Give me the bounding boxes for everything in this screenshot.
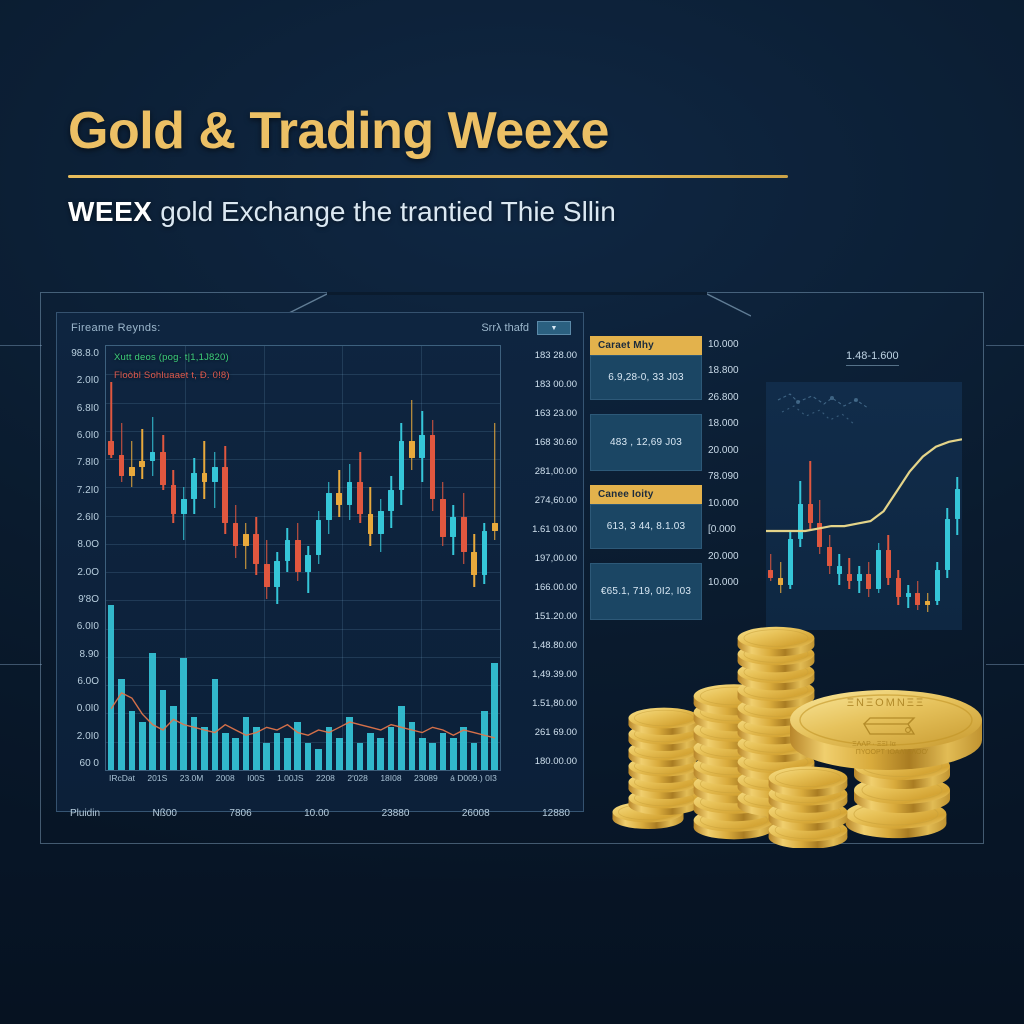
- x-tick: I00S: [247, 773, 265, 787]
- metric-value: 78.090: [708, 472, 770, 482]
- candlestick-plot[interactable]: Xutt deos (pog· t|1,1J820)Floòbl Sohluaa…: [105, 345, 501, 771]
- y-tick-left: 9'8O: [57, 595, 99, 605]
- legend-item-0: Xutt deos (pog· t|1,1J820): [114, 352, 230, 363]
- y-tick-right: 1,48.80.00: [501, 641, 577, 651]
- main-chart-panel: Fireame Reynds: Srrλ thafd ▼ 98.8.02.0I0…: [56, 312, 584, 812]
- metric-value: 18.800: [708, 366, 770, 376]
- chart-toolbar-label: Fireame Reynds:: [71, 322, 161, 334]
- stat-card-value: 6.9,28-0, 33 J03: [590, 355, 702, 400]
- y-tick-left: 2.0I0: [57, 376, 99, 386]
- x-tick: 2'028: [347, 773, 368, 787]
- y-tick-right: 261 69.00: [501, 728, 577, 738]
- mini-trend-path: [766, 439, 962, 531]
- metric-value: [0.000: [708, 525, 770, 535]
- y-tick-left: 6.0I0: [57, 431, 99, 441]
- y-tick-right: 163 23.00: [501, 409, 577, 419]
- y-tick-right: 183 28.00: [501, 351, 577, 361]
- y-tick-left: 6.0O: [57, 677, 99, 687]
- mini-trend-line: [766, 382, 962, 630]
- stat-card-list: Caraet Mhy6.9,28-0, 33 J03483 , 12,69 J0…: [590, 336, 702, 634]
- metric-value: 20.000: [708, 552, 770, 562]
- svg-text:ΠΥΟΟΡΤ ΊΟΑΛΊΛΛΟΟ': ΠΥΟΟΡΤ ΊΟΑΛΊΛΛΟΟ': [856, 749, 928, 756]
- y-tick-right: 151.20.00: [501, 612, 577, 622]
- chevron-down-icon: ▼: [551, 325, 558, 332]
- stat-card-header: Canee Ioity: [590, 485, 702, 504]
- y-tick-left: 7.2I0: [57, 486, 99, 496]
- y-axis-left: 98.8.02.0I06.8I06.0I07.8I07.2I02.6I08.0O…: [57, 345, 105, 771]
- y-tick-left: 8.0O: [57, 540, 99, 550]
- legend-item-1: Floòbl Sohluaaet t, Ð. 0!8): [114, 370, 230, 381]
- y-tick-left: 0.0I0: [57, 704, 99, 714]
- y-tick-right: 180.00.00: [501, 757, 577, 767]
- brand-name: WEEX: [68, 196, 152, 227]
- x-tick-outer: 7806: [229, 808, 251, 824]
- stat-card[interactable]: 483 , 12,69 J03: [590, 414, 702, 471]
- y-axis-right: 183 28.00183 00.00163 23.00168 30.60281,…: [501, 345, 583, 771]
- x-axis-outer: PluidinNß00780610.00238802600812880: [60, 808, 580, 824]
- x-tick: 18I08: [380, 773, 401, 787]
- metric-value: 10.000: [708, 499, 770, 509]
- y-tick-right: 274,60.00: [501, 496, 577, 506]
- frame-bracket-right: [986, 345, 1024, 665]
- y-tick-right: 166.00.00: [501, 583, 577, 593]
- x-tick-outer: 23880: [382, 808, 410, 824]
- page-title: Gold & Trading Weexe: [68, 104, 958, 159]
- metric-value: 26.800: [708, 393, 770, 403]
- mini-chart-label: 1.48-1.600: [846, 350, 899, 366]
- x-tick-outer: 12880: [542, 808, 570, 824]
- svg-text:ΞΛΛΡ · ΞΞΙ Ια: ΞΛΛΡ · ΞΞΙ Ια: [852, 741, 896, 748]
- y-tick-right: 168 30.60: [501, 438, 577, 448]
- y-tick-left: 7.8I0: [57, 458, 99, 468]
- stat-card-value: 613, 3 44, 8.1.03: [590, 504, 702, 549]
- x-tick-outer: Pluidin: [70, 808, 100, 824]
- page-header: Gold & Trading Weexe WEEX gold Exchange …: [68, 104, 958, 228]
- y-tick-left: 6.0I0: [57, 622, 99, 632]
- y-tick-right: 1,49.39.00: [501, 670, 577, 680]
- y-tick-left: 2.0I0: [57, 732, 99, 742]
- title-underline: [68, 175, 788, 178]
- x-axis-inner: IRcDat201S23.0M2008I00S1.00JS22082'02818…: [105, 773, 501, 787]
- chart-legend: Xutt deos (pog· t|1,1J820)Floòbl Sohluaa…: [114, 352, 230, 388]
- metric-value: 18.000: [708, 419, 770, 429]
- page-subtitle: WEEX gold Exchange the trantied Thie Sll…: [68, 196, 958, 228]
- y-tick-right: 1.61 03.00: [501, 525, 577, 535]
- gold-coins-illustration: ΞΝΞΟΜΝΞΞ ΞΛΛΡ · ΞΞΙ Ια ΠΥΟΟΡΤ ΊΟΑΛΊΛΛΟΟ': [586, 608, 986, 848]
- metric-value: 20.000: [708, 446, 770, 456]
- y-tick-right: 183 00.00: [501, 380, 577, 390]
- metric-value: 10.000: [708, 578, 770, 588]
- timeframe-dropdown[interactable]: ▼: [537, 321, 571, 335]
- y-tick-left: 98.8.0: [57, 349, 99, 359]
- x-tick-outer: 26008: [462, 808, 490, 824]
- chart-toolbar: Fireame Reynds: Srrλ thafd ▼: [57, 313, 583, 343]
- y-tick-right: 1.51,80.00: [501, 699, 577, 709]
- stat-card-header: Caraet Mhy: [590, 336, 702, 355]
- stat-card[interactable]: Caraet Mhy6.9,28-0, 33 J03: [590, 336, 702, 400]
- metric-number-column: 10.00018.80026.80018.00020.00078.09010.0…: [708, 340, 770, 588]
- timeframe-label: Srrλ thafd: [481, 322, 529, 334]
- y-tick-left: 8.90: [57, 650, 99, 660]
- y-tick-right: 197,00.00: [501, 554, 577, 564]
- coin-emblem-text: ΞΝΞΟΜΝΞΞ: [847, 697, 925, 709]
- x-tick: 23.0M: [180, 773, 204, 787]
- x-tick: á D009.) 0I3: [450, 773, 497, 787]
- x-tick: 201S: [147, 773, 167, 787]
- y-tick-left: 6.8I0: [57, 404, 99, 414]
- x-tick: IRcDat: [109, 773, 135, 787]
- x-tick: 1.00JS: [277, 773, 303, 787]
- overlay-path: [111, 693, 495, 738]
- frame-bracket-left: [0, 345, 42, 665]
- overlay-trend-line: [106, 346, 500, 768]
- bottom-vignette: [0, 854, 1024, 1024]
- y-tick-left: 2.0O: [57, 568, 99, 578]
- y-tick-right: 281,00.00: [501, 467, 577, 477]
- stat-card[interactable]: Canee Ioity613, 3 44, 8.1.03: [590, 485, 702, 549]
- metric-value: 10.000: [708, 340, 770, 350]
- y-tick-left: 2.6I0: [57, 513, 99, 523]
- x-tick: 2008: [216, 773, 235, 787]
- x-tick-outer: Nß00: [152, 808, 176, 824]
- y-tick-left: 60 0: [57, 759, 99, 769]
- mini-candlestick-chart[interactable]: [766, 382, 962, 630]
- x-tick-outer: 10.00: [304, 808, 329, 824]
- x-tick: 2208: [316, 773, 335, 787]
- subtitle-rest: gold Exchange the trantied Thie Sllin: [152, 196, 615, 227]
- stat-card-value: 483 , 12,69 J03: [590, 414, 702, 471]
- x-tick: 23089: [414, 773, 438, 787]
